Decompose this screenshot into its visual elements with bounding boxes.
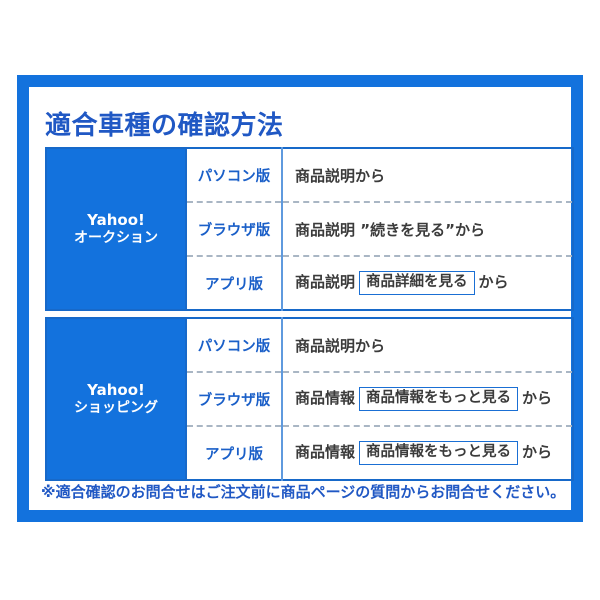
boxed-button-label[interactable]: 商品情報をもっと見る bbox=[359, 441, 518, 464]
description-cell: 商品情報商品情報をもっと見るから bbox=[282, 426, 573, 480]
brand-cell-auction: Yahoo! オークション bbox=[46, 148, 186, 310]
description-prefix: 商品説明から bbox=[295, 337, 385, 355]
description-prefix: 商品情報 bbox=[295, 444, 355, 462]
description-cell: 商品説明から bbox=[282, 318, 573, 372]
description-prefix: 商品説明 bbox=[295, 274, 355, 292]
description-suffix: から bbox=[479, 274, 509, 292]
platform-label-pc: パソコン版 bbox=[186, 148, 282, 202]
brand-cell-shopping: Yahoo! ショッピング bbox=[46, 318, 186, 480]
description-prefix: 商品説明から bbox=[295, 167, 385, 185]
brand-line2: オークション bbox=[49, 230, 183, 248]
platform-label-pc: パソコン版 bbox=[186, 318, 282, 372]
description-cell: 商品説明商品詳細を見るから bbox=[282, 256, 573, 310]
footer-note: ※適合確認のお問合せはご注文前に商品ページの質問からお問合せください。 bbox=[41, 481, 565, 502]
description-cell: 商品説明から bbox=[282, 148, 573, 202]
boxed-button-label[interactable]: 商品情報をもっと見る bbox=[359, 387, 518, 410]
boxed-button-label[interactable]: 商品詳細を見る bbox=[359, 271, 475, 294]
brand-line2: ショッピング bbox=[49, 400, 183, 418]
blue-outer-frame: 適合車種の確認方法 Yahoo! オークション パソコン版 商品説明から ブラウ… bbox=[17, 75, 583, 522]
platform-label-browser: ブラウザ版 bbox=[186, 202, 282, 256]
description-prefix: 商品説明 ”続きを見る”から bbox=[295, 221, 485, 239]
brand-line1: Yahoo! bbox=[49, 211, 183, 230]
brand-line1: Yahoo! bbox=[49, 381, 183, 400]
description-cell: 商品説明 ”続きを見る”から bbox=[282, 202, 573, 256]
platform-label-app: アプリ版 bbox=[186, 426, 282, 480]
content-panel: 適合車種の確認方法 Yahoo! オークション パソコン版 商品説明から ブラウ… bbox=[29, 87, 571, 510]
section-yahoo-auction: Yahoo! オークション パソコン版 商品説明から ブラウザ版 商品説明 ”続… bbox=[45, 147, 574, 311]
description-prefix: 商品情報 bbox=[295, 390, 355, 408]
platform-label-app: アプリ版 bbox=[186, 256, 282, 310]
table-row: Yahoo! オークション パソコン版 商品説明から bbox=[46, 148, 573, 202]
platform-label-browser: ブラウザ版 bbox=[186, 372, 282, 426]
compatibility-table: Yahoo! オークション パソコン版 商品説明から ブラウザ版 商品説明 ”続… bbox=[45, 147, 574, 481]
section-yahoo-shopping: Yahoo! ショッピング パソコン版 商品説明から ブラウザ版 商品情報商品情… bbox=[45, 317, 574, 481]
table-row: Yahoo! ショッピング パソコン版 商品説明から bbox=[46, 318, 573, 372]
page-title: 適合車種の確認方法 bbox=[45, 105, 284, 142]
description-suffix: から bbox=[522, 390, 552, 408]
description-cell: 商品情報商品情報をもっと見るから bbox=[282, 372, 573, 426]
description-suffix: から bbox=[522, 444, 552, 462]
